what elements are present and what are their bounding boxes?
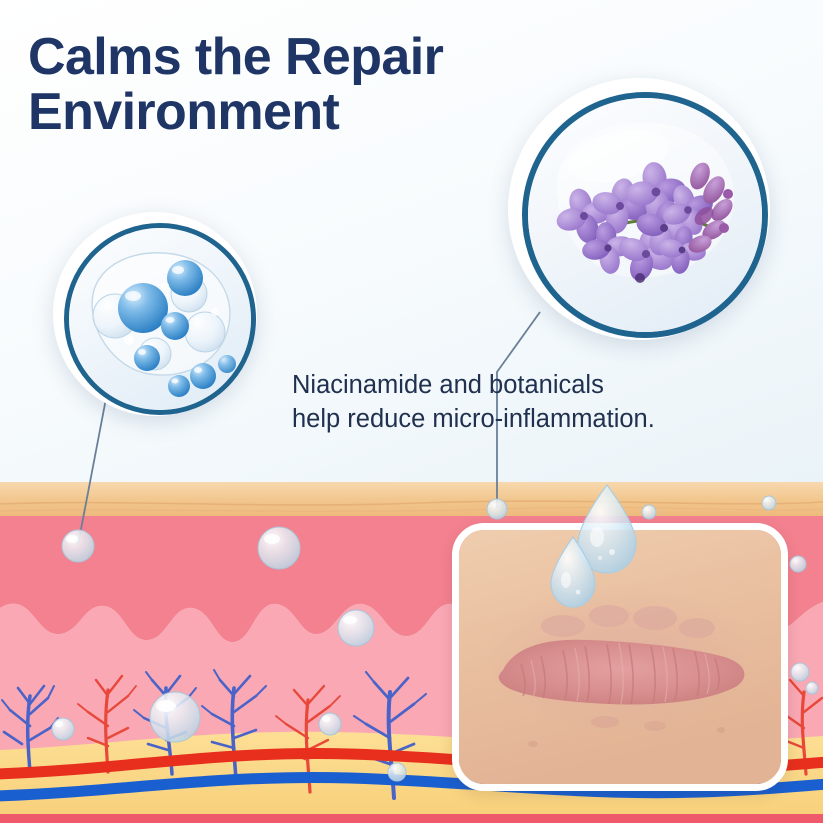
body-caption: Niacinamide and botanicals help reduce m… [292,368,772,437]
poster-canvas: Calms the Repair Environment Niacinamide… [0,0,823,823]
serum-bubbles-circle[interactable] [53,212,257,416]
scar-photo-card[interactable] [452,523,788,791]
page-title: Calms the Repair Environment [28,30,568,140]
serum-circle-ring [64,223,256,415]
layer-base-strip [0,814,823,823]
